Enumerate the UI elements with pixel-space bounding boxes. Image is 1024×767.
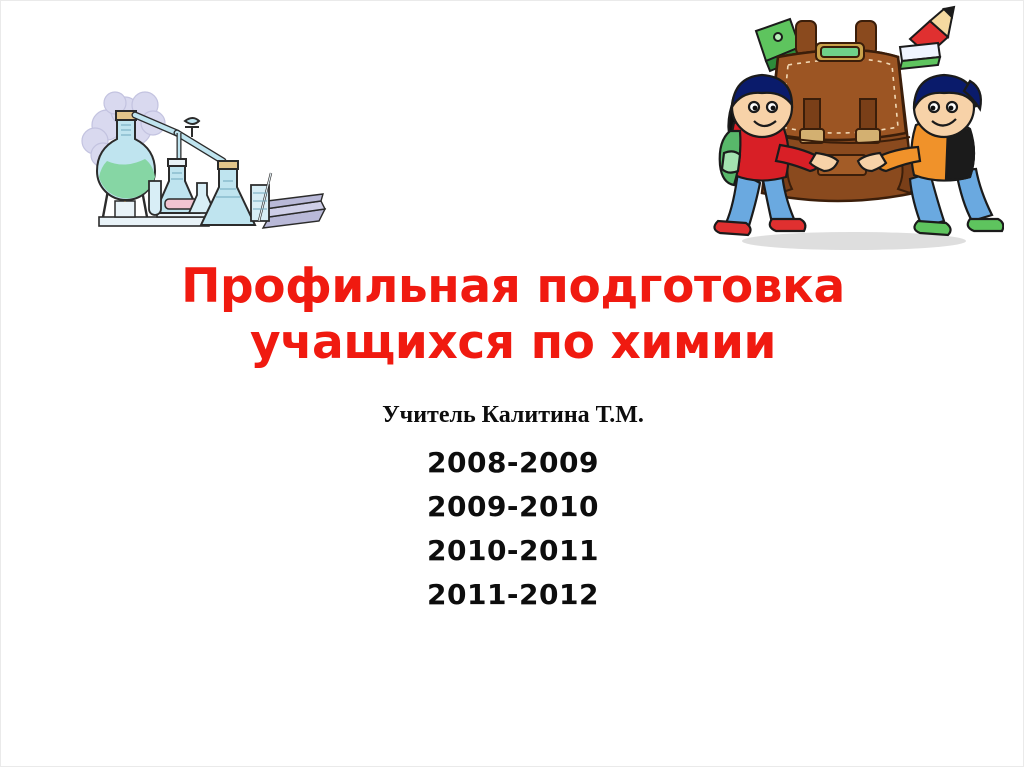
title-line-1: Профильная подготовка [1, 259, 1024, 315]
school-year-item: 2008-2009 [1, 441, 1024, 485]
title-line-2: учащихся по химии [1, 315, 1024, 371]
presentation-slide: Профильная подготовка учащихся по химии … [0, 0, 1024, 767]
school-year-item: 2011-2012 [1, 573, 1024, 617]
school-year-item: 2009-2010 [1, 485, 1024, 529]
kids-carrying-satchel-clipart [704, 3, 1004, 251]
page-title: Профильная подготовка учащихся по химии [1, 259, 1024, 371]
author-name: Учитель Калитина Т.М. [1, 401, 1024, 429]
chemistry-lab-clipart [73, 89, 333, 249]
school-years-list: 2008-2009 2009-2010 2010-2011 2011-2012 [1, 441, 1024, 617]
school-year-item: 2010-2011 [1, 529, 1024, 573]
